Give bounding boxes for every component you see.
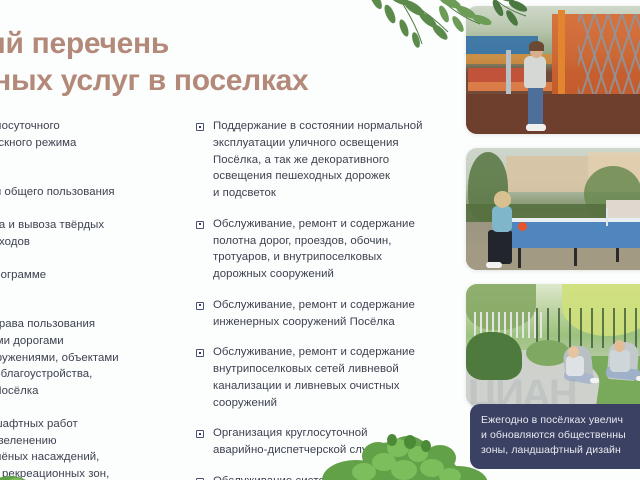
caption-line2: и обновляются общественны bbox=[481, 428, 640, 443]
list-item: ация сбора и вывоза твёрдых альных отход… bbox=[0, 217, 190, 251]
list-item: ние ландшафтных работ ройству, озеленени… bbox=[0, 416, 190, 480]
square-bullet-icon bbox=[196, 349, 204, 357]
list-item-label: ация круглосуточного ьно-пропускного реж… bbox=[0, 118, 76, 168]
caption-line3: зоны, ландшафтный дизайн bbox=[481, 443, 640, 458]
slide-canvas: овый перечень зисных услуг в поселках ац… bbox=[0, 0, 640, 480]
list-item-label: Поддержание в состоянии нормальной экспл… bbox=[213, 118, 423, 202]
page-title: овый перечень зисных услуг в поселках bbox=[0, 26, 414, 99]
list-item-label: Обслуживание, ремонт и содержание внутри… bbox=[213, 344, 415, 411]
pingpong-photo bbox=[466, 148, 640, 270]
list-item: Организация круглосуточной аварийно-дисп… bbox=[196, 425, 446, 459]
info-caption-box: Ежегодно в посёлках увелич и обновляются… bbox=[470, 404, 640, 469]
square-bullet-icon bbox=[196, 221, 204, 229]
list-item: Обслуживание, ремонт и содержание полотн… bbox=[196, 216, 446, 283]
page-title-line2: зисных услуг в поселках bbox=[0, 63, 414, 100]
park-photo bbox=[466, 284, 640, 406]
list-item: ерриторий общего пользования bbox=[0, 184, 190, 201]
square-bullet-icon bbox=[196, 430, 204, 438]
list-item-label: чение к программе ЖКХ» bbox=[0, 267, 46, 301]
square-bullet-icon bbox=[196, 123, 204, 131]
service-list-left-column: ация круглосуточного ьно-пропускного реж… bbox=[0, 118, 190, 480]
list-item: Поддержание в состоянии нормальной экспл… bbox=[196, 118, 446, 202]
list-item-label: Обслуживание, ремонт и содержание инжене… bbox=[213, 297, 415, 331]
list-item: Обслуживание, ремонт и содержание инжене… bbox=[196, 297, 446, 331]
list-item: ация круглосуточного ьно-пропускного реж… bbox=[0, 118, 190, 168]
list-item-label: авление права пользования оселковыми дор… bbox=[0, 316, 119, 400]
square-bullet-icon bbox=[196, 302, 204, 310]
list-item-label: Обслуживание, ремонт и содержание полотн… bbox=[213, 216, 415, 283]
caption-line1: Ежегодно в посёлках увелич bbox=[481, 413, 640, 428]
list-item-label: ация сбора и вывоза твёрдых альных отход… bbox=[0, 217, 104, 251]
list-item: авление права пользования оселковыми дор… bbox=[0, 316, 190, 400]
list-item-label: ерриторий общего пользования bbox=[0, 184, 115, 201]
list-item: чение к программе ЖКХ» bbox=[0, 267, 190, 301]
list-item-label: Организация круглосуточной аварийно-дисп… bbox=[213, 425, 390, 459]
list-item: Обслуживание, ремонт и содержание внутри… bbox=[196, 344, 446, 411]
page-title-line1: овый перечень bbox=[0, 27, 169, 60]
list-item-label: ние ландшафтных работ ройству, озеленени… bbox=[0, 416, 109, 480]
playground-photo bbox=[466, 6, 640, 134]
service-list-right-column: Поддержание в состоянии нормальной экспл… bbox=[196, 118, 446, 480]
list-item: Обслуживание систем видео- наблюдения на… bbox=[196, 473, 446, 480]
list-item-label: Обслуживание систем видео- наблюдения на… bbox=[213, 473, 408, 480]
